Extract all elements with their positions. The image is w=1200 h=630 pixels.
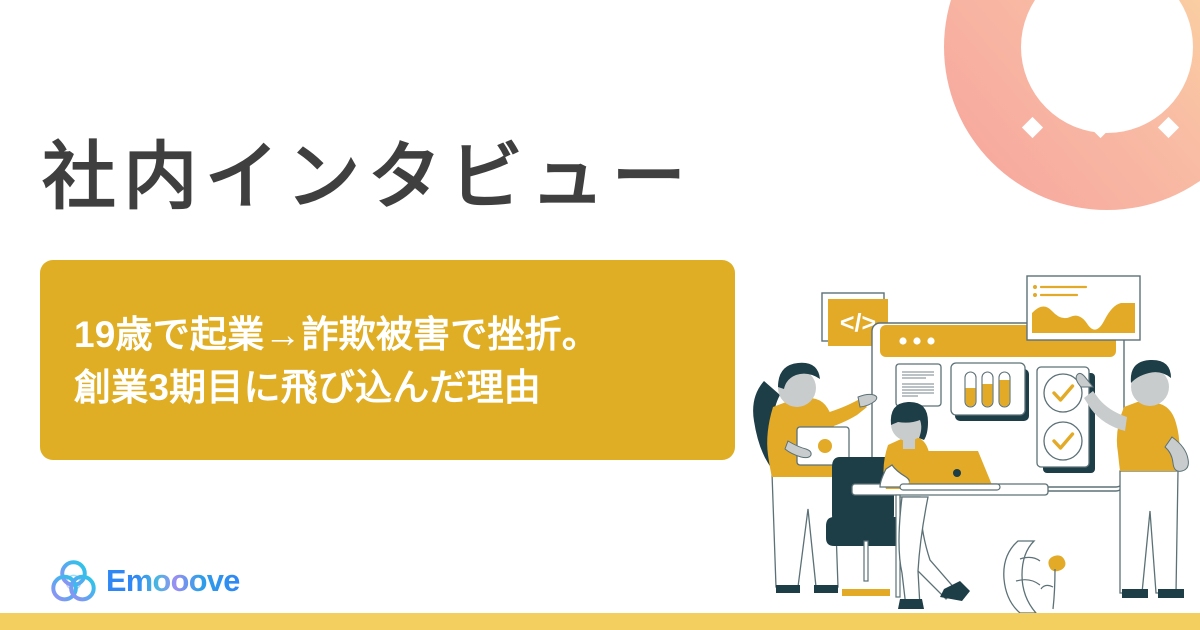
poster-canvas: 社内インタビュー 19歳で起業→詐欺被害で挫折。 創業3期目に飛び込んだ理由 xyxy=(0,0,1200,630)
subtitle-panel: 19歳で起業→詐欺被害で挫折。 創業3期目に飛び込んだ理由 xyxy=(40,260,735,460)
brand-logo[interactable]: Emooove xyxy=(50,558,342,605)
gauge-1 xyxy=(965,372,976,407)
svg-text:Emooove: Emooove xyxy=(106,565,240,598)
team-dashboard-illustration: </> xyxy=(740,241,1200,613)
bar-gauge-card xyxy=(951,363,1029,421)
subtitle-line-2: 創業3期目に飛び込んだ理由 xyxy=(74,361,701,414)
page-title: 社内インタビュー xyxy=(42,136,693,219)
emooove-trefoil-mark-icon xyxy=(50,558,97,605)
area-chart-card xyxy=(1027,276,1140,340)
plant xyxy=(1004,541,1066,613)
svg-text:</>: </> xyxy=(840,309,876,337)
gauge-3 xyxy=(999,372,1010,407)
gauge-2 xyxy=(982,372,993,407)
donut-dots xyxy=(1022,0,1200,138)
donut-ring-decoration xyxy=(942,0,1200,212)
subtitle-line-1: 19歳で起業→詐欺被害で挫折。 xyxy=(74,308,701,361)
text-block-card xyxy=(896,364,941,406)
ground-bar xyxy=(0,613,1200,630)
emooove-wordmark: Emooove xyxy=(106,565,342,598)
